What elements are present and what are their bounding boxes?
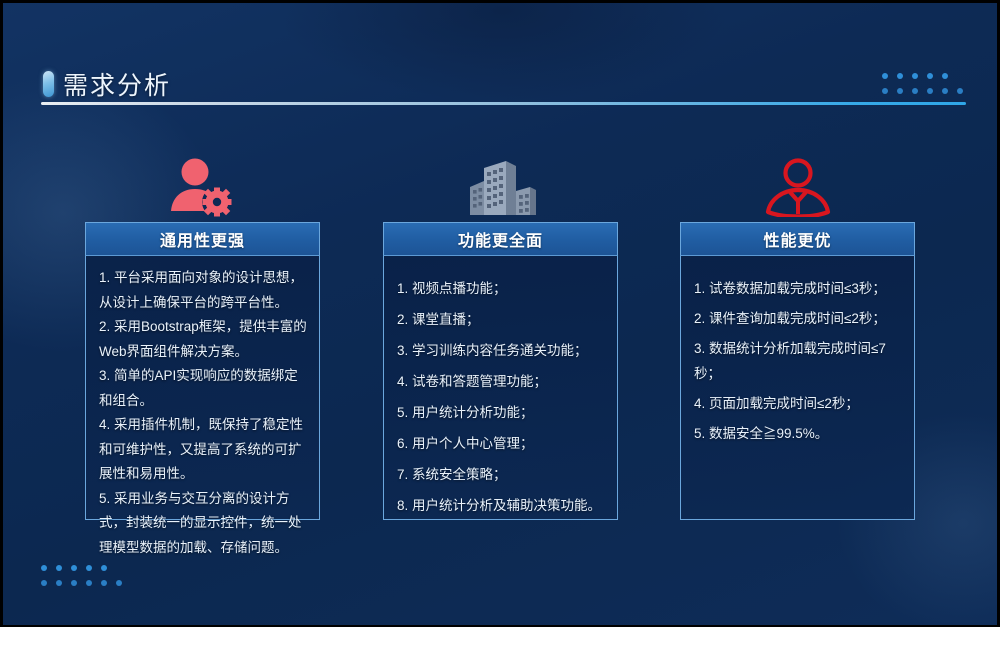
feature-card-functionality: 功能更全面 1. 视频点播功能； 2. 课堂直播； 3. 学习训练内容任务通关功… [383, 222, 618, 520]
dot [116, 580, 122, 586]
list-item: 5. 采用业务与交互分离的设计方式，封装统一的显示控件，统一处理模型数据的加载、… [99, 487, 307, 561]
list-item: 8. 用户统计分析及辅助决策功能。 [397, 493, 605, 518]
dot [101, 580, 107, 586]
card-body: 1. 平台采用面向对象的设计思想，从设计上确保平台的跨平台性。 2. 采用Boo… [85, 255, 320, 520]
dot [912, 73, 918, 79]
dot [41, 580, 47, 586]
user-settings-icon [141, 155, 261, 217]
list-item: 7. 系统安全策略； [397, 462, 605, 487]
list-item: 1. 视频点播功能； [397, 276, 605, 301]
dot [897, 88, 903, 94]
feature-card-performance: 性能更优 1. 试卷数据加载完成时间≤3秒； 2. 课件查询加载完成时间≤2秒；… [680, 222, 915, 520]
dot [116, 565, 122, 571]
dot [86, 580, 92, 586]
list-item: 2. 采用Bootstrap框架，提供丰富的Web界面组件解决方案。 [99, 315, 307, 364]
dot [957, 73, 963, 79]
dot [71, 565, 77, 571]
dot [942, 73, 948, 79]
dot [897, 73, 903, 79]
dot [942, 88, 948, 94]
title-divider [41, 102, 966, 105]
list-item: 1. 平台采用面向对象的设计思想，从设计上确保平台的跨平台性。 [99, 266, 307, 315]
list-item: 4. 试卷和答题管理功能； [397, 369, 605, 394]
list-item: 2. 课件查询加载完成时间≤2秒； [694, 306, 902, 331]
list-item: 3. 学习训练内容任务通关功能； [397, 338, 605, 363]
dot [927, 73, 933, 79]
list-item: 4. 页面加载完成时间≤2秒； [694, 391, 902, 416]
dot [882, 73, 888, 79]
dot [41, 565, 47, 571]
card-body: 1. 试卷数据加载完成时间≤3秒； 2. 课件查询加载完成时间≤2秒； 3. 数… [680, 255, 915, 520]
list-item: 6. 用户个人中心管理； [397, 431, 605, 456]
page-title: 需求分析 [63, 66, 171, 102]
decorative-dots-top-right [882, 73, 972, 94]
card-header: 通用性更强 [85, 222, 320, 255]
dot [927, 88, 933, 94]
buildings-icon [441, 155, 561, 217]
dot [56, 580, 62, 586]
feature-card-generality: 通用性更强 1. 平台采用面向对象的设计思想，从设计上确保平台的跨平台性。 2.… [85, 222, 320, 520]
card-header: 性能更优 [680, 222, 915, 255]
list-item: 2. 课堂直播； [397, 307, 605, 332]
list-item: 5. 数据安全≧99.5%。 [694, 421, 902, 446]
dot [101, 565, 107, 571]
card-title: 性能更优 [763, 227, 831, 251]
title-pill-icon [43, 71, 54, 97]
list-item: 5. 用户统计分析功能； [397, 400, 605, 425]
dot [882, 88, 888, 94]
list-item: 3. 数据统计分析加载完成时间≤7秒； [694, 336, 902, 386]
card-title: 通用性更强 [160, 227, 245, 251]
slide-canvas: 需求分析 [3, 3, 997, 625]
businessperson-icon [738, 155, 858, 217]
dot [71, 580, 77, 586]
dot [56, 565, 62, 571]
dot [912, 88, 918, 94]
decorative-dots-bottom-left [41, 565, 131, 586]
card-body: 1. 视频点播功能； 2. 课堂直播； 3. 学习训练内容任务通关功能； 4. … [383, 255, 618, 520]
card-title: 功能更全面 [458, 227, 543, 251]
list-item: 4. 采用插件机制，既保持了稳定性和可维护性，又提高了系统的可扩展性和易用性。 [99, 413, 307, 487]
dot [957, 88, 963, 94]
dot [86, 565, 92, 571]
list-item: 3. 简单的API实现响应的数据绑定和组合。 [99, 364, 307, 413]
slide-header: 需求分析 [3, 3, 997, 108]
slide-frame: 需求分析 [0, 0, 1000, 627]
card-header: 功能更全面 [383, 222, 618, 255]
list-item: 1. 试卷数据加载完成时间≤3秒； [694, 276, 902, 301]
